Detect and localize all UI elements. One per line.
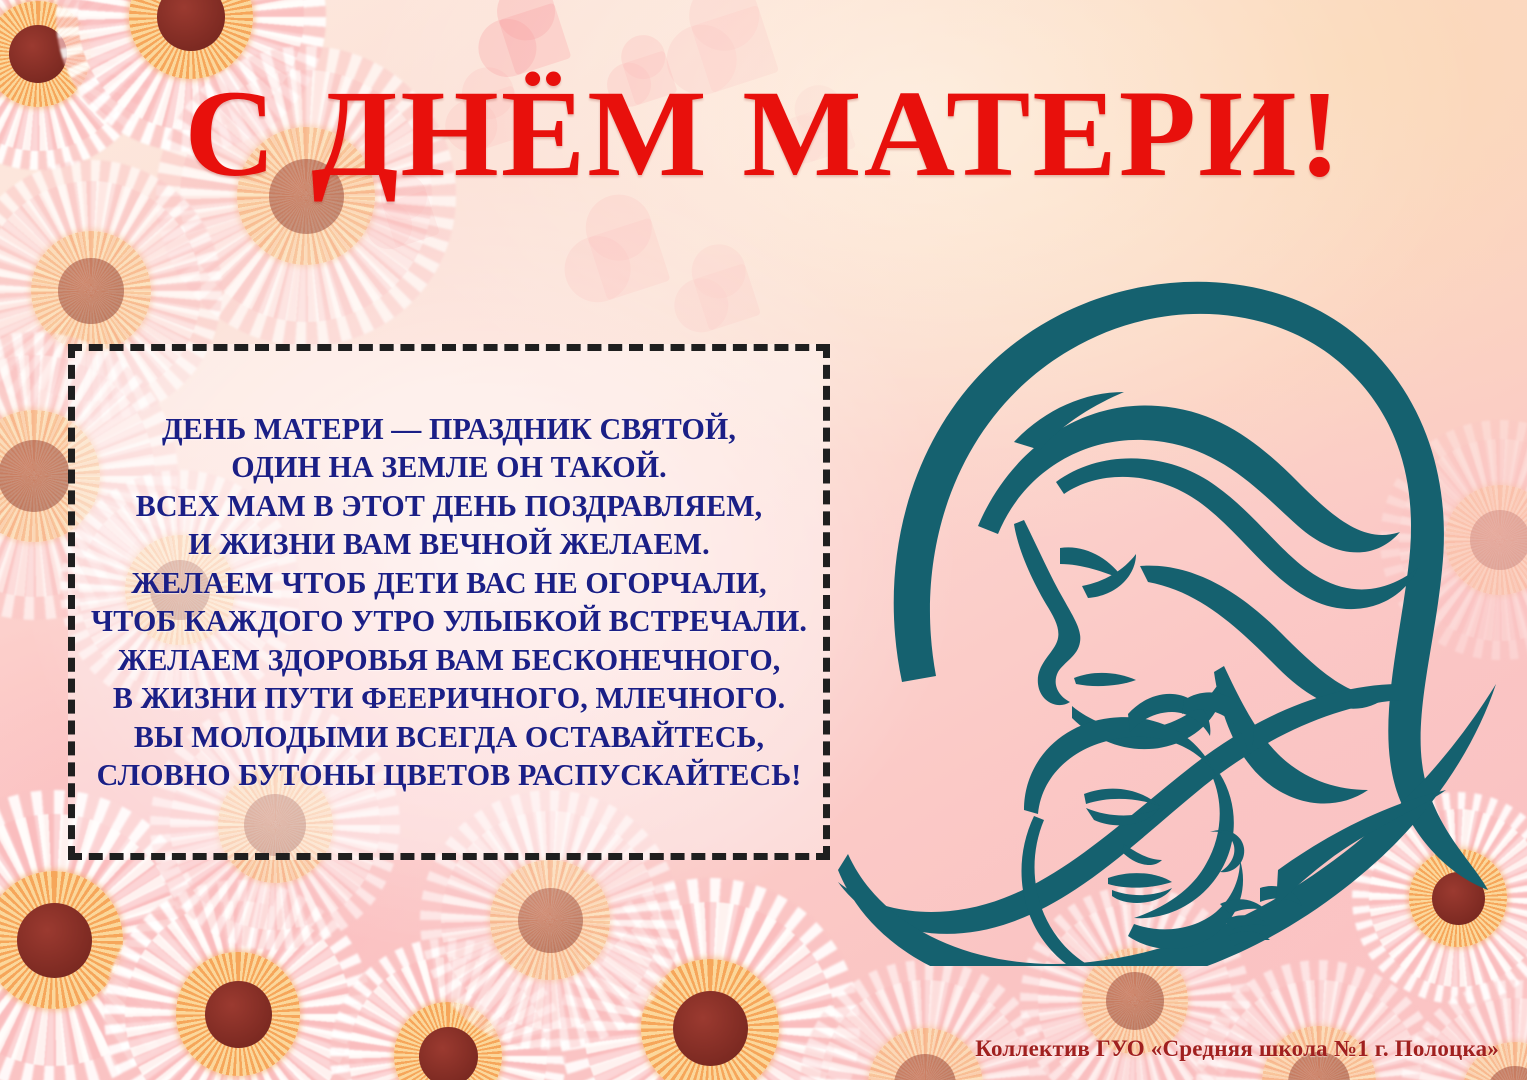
poem-line: В ЖИЗНИ ПУТИ ФЕЕРИЧНОГО, МЛЕЧНОГО. [81, 679, 818, 718]
page-title: С ДНЁМ МАТЕРИ! [0, 72, 1527, 196]
poem-line: ОДИН НА ЗЕМЛЕ ОН ТАКОЙ. [81, 448, 818, 487]
mothers-day-poster: С ДНЁМ МАТЕРИ! ДЕНЬ МАТЕРИ — ПРАЗДНИК СВ… [0, 0, 1527, 1080]
poem-line: ВЫ МОЛОДЫМИ ВСЕГДА ОСТАВАЙТЕСЬ, [81, 718, 818, 757]
poem-text: ДЕНЬ МАТЕРИ — ПРАЗДНИК СВЯТОЙ, ОДИН НА З… [81, 410, 818, 795]
school-credit: Коллектив ГУО «Средняя школа №1 г. Полоц… [975, 1036, 1499, 1062]
poem-line: ЧТОБ КАЖДОГО УТРО УЛЫБКОЙ ВСТРЕЧАЛИ. [81, 602, 818, 641]
poem-box: ДЕНЬ МАТЕРИ — ПРАЗДНИК СВЯТОЙ, ОДИН НА З… [68, 344, 830, 860]
poem-line: СЛОВНО БУТОНЫ ЦВЕТОВ РАСПУСКАЙТЕСЬ! [81, 756, 818, 795]
mother-and-child-illustration [828, 214, 1527, 966]
poem-line: ВСЕХ МАМ В ЭТОТ ДЕНЬ ПОЗДРАВЛЯЕМ, [81, 487, 818, 526]
poem-line: ЖЕЛАЕМ ЗДОРОВЬЯ ВАМ БЕСКОНЕЧНОГО, [81, 641, 818, 680]
poem-line: И ЖИЗНИ ВАМ ВЕЧНОЙ ЖЕЛАЕМ. [81, 525, 818, 564]
poem-line: ЖЕЛАЕМ ЧТОБ ДЕТИ ВАС НЕ ОГОРЧАЛИ, [81, 564, 818, 603]
poem-line: ДЕНЬ МАТЕРИ — ПРАЗДНИК СВЯТОЙ, [81, 410, 818, 449]
